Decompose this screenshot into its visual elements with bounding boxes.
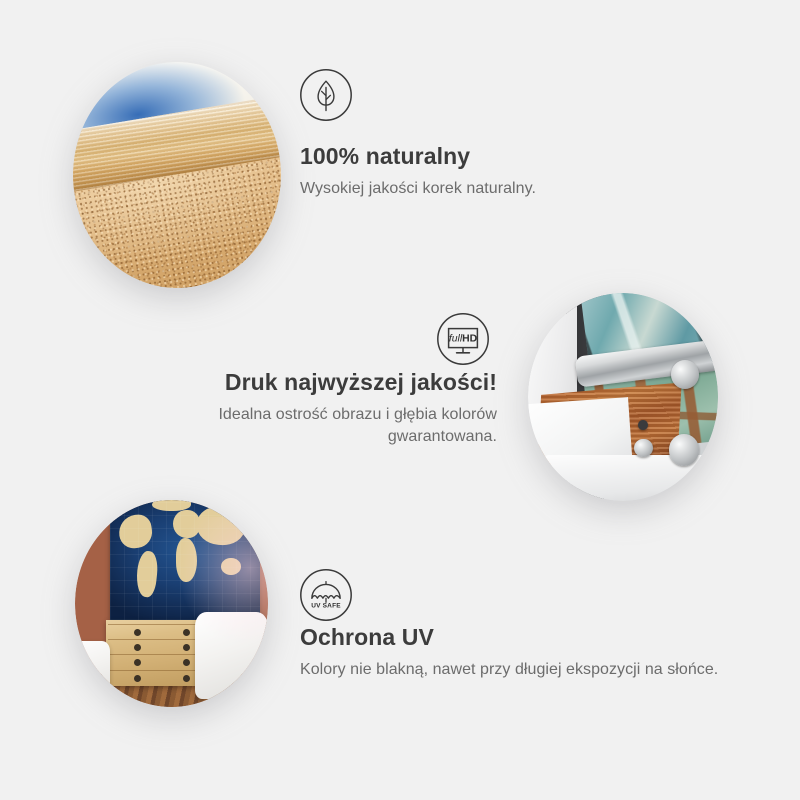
- map-landmass: [134, 550, 158, 598]
- feature-natural-subtitle: Wysokiej jakości korek naturalny.: [300, 178, 720, 201]
- feature-print-title: Druk najwyższej jakości!: [157, 368, 497, 397]
- room-photo-inner: [75, 500, 268, 707]
- printer-photo-knob: [638, 420, 648, 430]
- feature-print-text: Druk najwyższej jakości! Idealna ostrość…: [157, 368, 497, 449]
- feature-natural-title: 100% naturalny: [300, 142, 720, 171]
- large-format-printer-photo: [528, 293, 718, 501]
- feature-uv-title: Ochrona UV: [300, 623, 730, 652]
- feature-print-subtitle: Idealna ostrość obrazu i głębia kolorów …: [157, 404, 497, 449]
- cork-photo-inner: [73, 62, 281, 288]
- svg-text:fullHD: fullHD: [449, 333, 478, 344]
- room-photo-armchair: [75, 641, 110, 703]
- printer-photo-inner: [528, 293, 718, 501]
- feature-uv-subtitle: Kolory nie blakną, nawet przy długiej ek…: [300, 659, 730, 682]
- printer-photo-knob: [671, 360, 700, 389]
- feature-uv-text: Ochrona UV Kolory nie blakną, nawet przy…: [300, 623, 730, 681]
- printer-photo-knob: [669, 434, 699, 465]
- fullhd-monitor-icon: fullHD: [436, 312, 490, 366]
- room-photo-light-glow: [179, 517, 268, 645]
- map-landmass: [117, 513, 154, 551]
- svg-text:UV SAFE: UV SAFE: [311, 603, 341, 610]
- cork-board-macro-photo: [73, 62, 281, 288]
- interior-world-map-photo: [75, 500, 268, 707]
- uv-safe-umbrella-icon: UV SAFE: [299, 568, 353, 622]
- feature-infographic: 100% naturalny Wysokiej jakości korek na…: [0, 0, 800, 800]
- leaf-icon: [299, 68, 353, 122]
- feature-natural-text: 100% naturalny Wysokiej jakości korek na…: [300, 142, 720, 200]
- map-landmass: [152, 500, 191, 511]
